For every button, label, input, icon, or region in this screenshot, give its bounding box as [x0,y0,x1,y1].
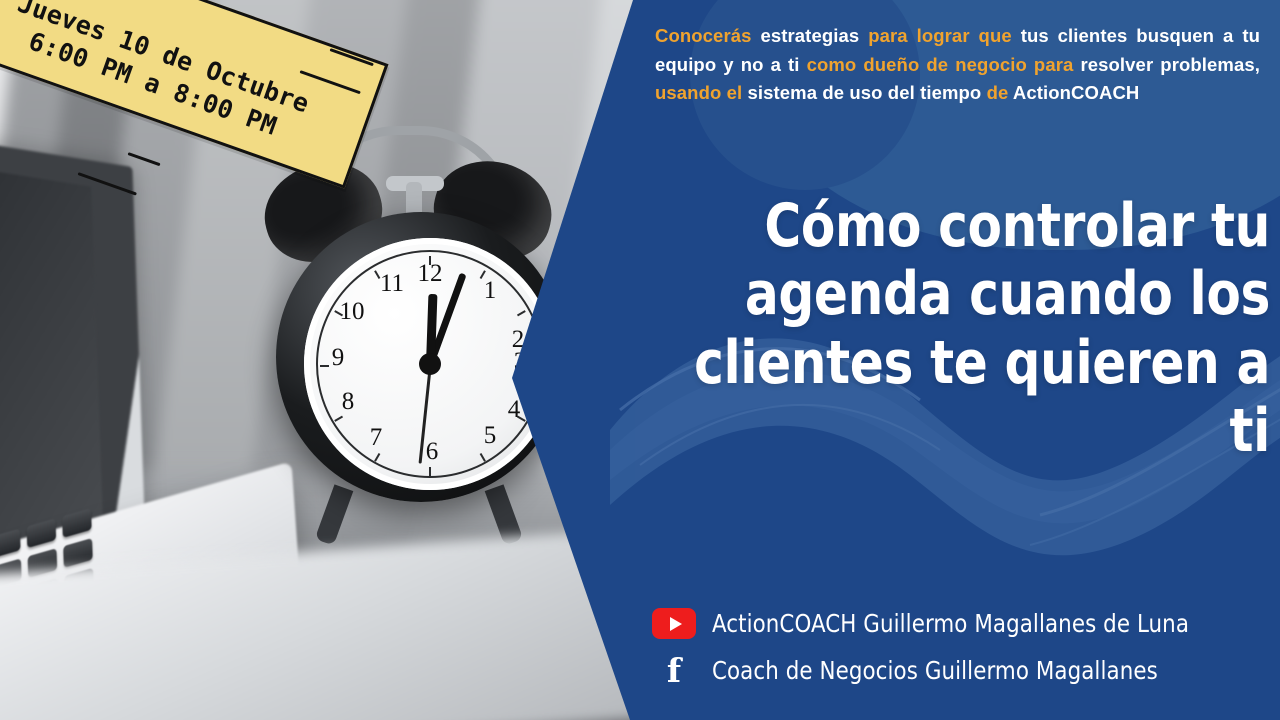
clock-numeral: 1 [475,277,505,305]
clock-numeral: 12 [415,260,445,288]
desc-segment: sistema de uso del tiempo [748,82,987,103]
desc-segment: resolver problemas, [1080,54,1260,75]
headline-line-2: agenda cuando los [684,260,1270,328]
desc-segment: usando el [655,82,748,103]
social-row-facebook[interactable]: f Coach de Negocios Guillermo Magallanes [652,655,1272,686]
clock-foot-left [315,484,354,545]
description-paragraph: Conocerás estrategias para lograr que tu… [655,22,1260,108]
headline-line-1: Cómo controlar tu [684,192,1270,260]
clock-numeral: 7 [361,424,391,452]
desc-segment: como dueño de negocio para [807,54,1081,75]
facebook-page-label: Coach de Negocios Guillermo Magallanes [712,656,1158,685]
headline-line-3: clientes te quieren a ti [684,329,1270,466]
clock-numeral: 8 [333,388,363,416]
clock-numeral: 9 [323,344,353,372]
clock-numeral: 10 [337,298,367,326]
desc-segment: de [987,82,1013,103]
youtube-channel-label: ActionCOACH Guillermo Magallanes de Luna [712,609,1189,638]
desc-segment: estrategias [760,25,868,46]
clock-center-pin [419,353,441,375]
clock-numeral: 5 [475,422,505,450]
clock-numeral: 11 [377,270,407,298]
desc-segment: para lograr que [868,25,1021,46]
desc-segment: ActionCOACH [1013,82,1139,103]
social-links: ActionCOACH Guillermo Magallanes de Luna… [652,608,1272,702]
desc-segment: Conocerás [655,25,760,46]
facebook-icon[interactable]: f [652,655,696,686]
social-row-youtube[interactable]: ActionCOACH Guillermo Magallanes de Luna [652,608,1272,639]
youtube-icon[interactable] [652,608,696,639]
page-title: Cómo controlar tu agenda cuando los clie… [684,192,1270,466]
promo-flyer: 12 1 2 3 4 5 6 7 8 9 10 11 Jueves 10 de … [0,0,1280,720]
